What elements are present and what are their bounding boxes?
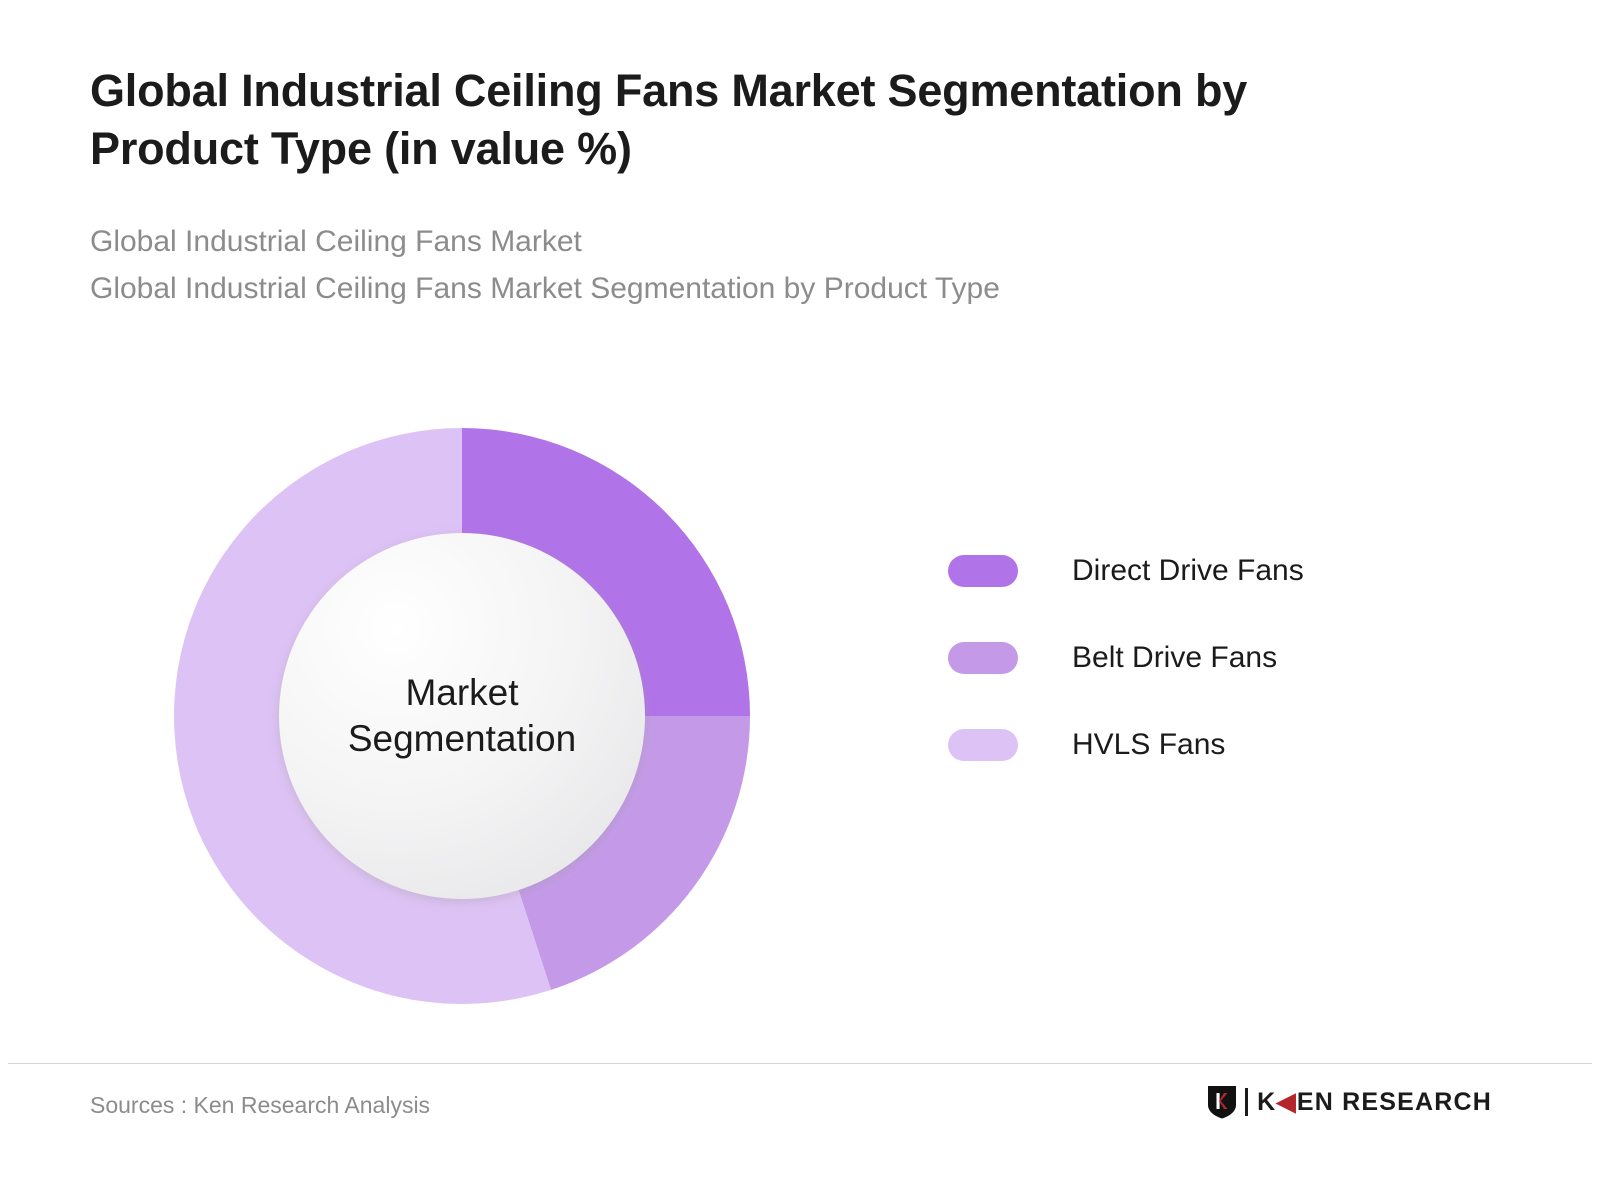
logo-text-part-2: EN RESEARCH [1297, 1088, 1492, 1117]
legend-item-label: Direct Drive Fans [1072, 554, 1304, 588]
legend-swatch-icon [948, 642, 1018, 674]
legend-item-label: Belt Drive Fans [1072, 641, 1277, 675]
ken-research-logo: K◀EN RESEARCH [1207, 1085, 1492, 1119]
page-title: Global Industrial Ceiling Fans Market Se… [90, 62, 1420, 177]
legend-swatch-icon [948, 555, 1018, 587]
subtitle-block: Global Industrial Ceiling Fans Market Gl… [90, 219, 1420, 312]
slide-root: Global Industrial Ceiling Fans Market Se… [0, 0, 1600, 1200]
donut-chart: Market Segmentation [172, 426, 752, 1006]
legend-item-label: HVLS Fans [1072, 728, 1225, 762]
legend-swatch-icon [948, 729, 1018, 761]
chart-area: Market Segmentation Direct Drive Fans Be… [0, 390, 1600, 1040]
legend-item-hvls-fans[interactable]: HVLS Fans [948, 719, 1304, 771]
footer-sources-text: Sources : Ken Research Analysis [90, 1092, 430, 1119]
logo-text-part-1: K [1257, 1088, 1276, 1117]
logo-divider [1245, 1088, 1248, 1116]
donut-hole [279, 533, 645, 899]
donut-chart-svg [172, 426, 752, 1006]
logo-accent-icon: ◀ [1276, 1087, 1296, 1117]
logo-wordmark: K◀EN RESEARCH [1257, 1087, 1492, 1117]
header: Global Industrial Ceiling Fans Market Se… [90, 62, 1420, 312]
subtitle-line-1: Global Industrial Ceiling Fans Market [90, 219, 1420, 266]
legend-item-belt-drive-fans[interactable]: Belt Drive Fans [948, 632, 1304, 684]
chart-legend: Direct Drive Fans Belt Drive Fans HVLS F… [948, 545, 1304, 771]
shield-k-icon [1207, 1085, 1237, 1119]
subtitle-line-2: Global Industrial Ceiling Fans Market Se… [90, 266, 1420, 313]
footer-divider [8, 1063, 1592, 1064]
legend-item-direct-drive-fans[interactable]: Direct Drive Fans [948, 545, 1304, 597]
